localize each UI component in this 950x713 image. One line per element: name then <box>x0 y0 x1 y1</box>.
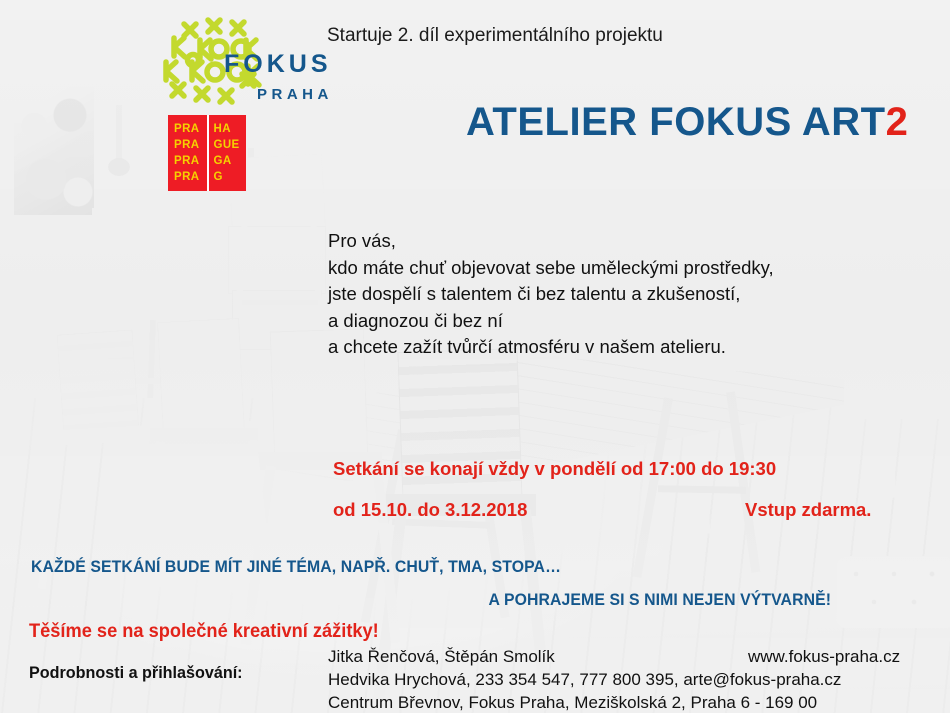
theme-block: KAŽDÉ SETKÁNÍ BUDE MÍT JINÉ TÉMA, NAPŘ. … <box>31 557 831 610</box>
prague-logo-cell: G <box>214 169 247 185</box>
body-line: a chcete zažít tvůrčí atmosféru v našem … <box>328 334 774 361</box>
poster-canvas: FOKUS PRAHA PRA PRA PRA PRA HA GUE GA G … <box>0 0 950 713</box>
contact-line-address: Centrum Břevnov, Fokus Praha, Meziškolsk… <box>328 691 841 713</box>
body-line: Pro vás, <box>328 228 774 255</box>
schedule-dates-row: od 15.10. do 3.12.2018 Vstup zdarma. <box>333 499 776 521</box>
prague-logo-left-column: PRA PRA PRA PRA <box>168 115 207 191</box>
schedule-block: Setkání se konají vždy v pondělí od 17:0… <box>333 458 776 521</box>
prague-logo-cell: PRA <box>174 121 207 137</box>
theme-line-2: A POHRAJEME SI S NIMI NEJEN VÝTVARNĚ! <box>489 590 832 610</box>
contact-line-phone: Hedvika Hrychová, 233 354 547, 777 800 3… <box>328 668 841 691</box>
poster-content: FOKUS PRAHA PRA PRA PRA PRA HA GUE GA G … <box>0 0 950 713</box>
fokus-wordmark: FOKUS <box>224 50 332 79</box>
title-edition-number: 2 <box>886 100 909 144</box>
contact-line-people: Jitka Řenčová, Štěpán Smolíkwww.fokus-pr… <box>328 645 841 668</box>
prague-logo-cell: HA <box>214 121 247 137</box>
schedule-time: Setkání se konají vždy v pondělí od 17:0… <box>333 458 776 480</box>
schedule-dates: od 15.10. do 3.12.2018 <box>333 499 527 520</box>
body-paragraph: Pro vás, kdo máte chuť objevovat sebe um… <box>328 228 774 361</box>
prague-city-logo: PRA PRA PRA PRA HA GUE GA G <box>168 115 246 191</box>
prague-logo-cell: GA <box>214 153 247 169</box>
prague-logo-cell: PRA <box>174 153 207 169</box>
closing-statement: Těšíme se na společné kreativní zážitky! <box>29 621 379 643</box>
page-title: ATELIER FOKUS ART2 <box>466 100 908 145</box>
kicker-text: Startuje 2. díl experimentálního projekt… <box>327 25 663 47</box>
fokus-praha-logo: FOKUS PRAHA <box>162 14 337 106</box>
website-link[interactable]: www.fokus-praha.cz <box>748 645 900 668</box>
prague-logo-right-column: HA GUE GA G <box>207 115 247 191</box>
prague-logo-cell: PRA <box>174 169 207 185</box>
praha-wordmark: PRAHA <box>257 86 333 103</box>
contact-block: Jitka Řenčová, Štěpán Smolíkwww.fokus-pr… <box>328 645 841 713</box>
title-main-text: ATELIER FOKUS ART <box>466 100 886 144</box>
body-line: jste dospělí s talentem či bez talentu a… <box>328 281 774 308</box>
body-line: kdo máte chuť objevovat sebe uměleckými … <box>328 255 774 282</box>
prague-logo-cell: PRA <box>174 137 207 153</box>
contact-label: Podrobnosti a přihlašování: <box>29 663 243 683</box>
theme-line-1: KAŽDÉ SETKÁNÍ BUDE MÍT JINÉ TÉMA, NAPŘ. … <box>31 557 831 577</box>
contact-people: Jitka Řenčová, Štěpán Smolík <box>328 647 555 666</box>
prague-logo-cell: GUE <box>214 137 247 153</box>
free-entry-note: Vstup zdarma. <box>745 499 871 521</box>
body-line: a diagnozou či bez ní <box>328 308 774 335</box>
